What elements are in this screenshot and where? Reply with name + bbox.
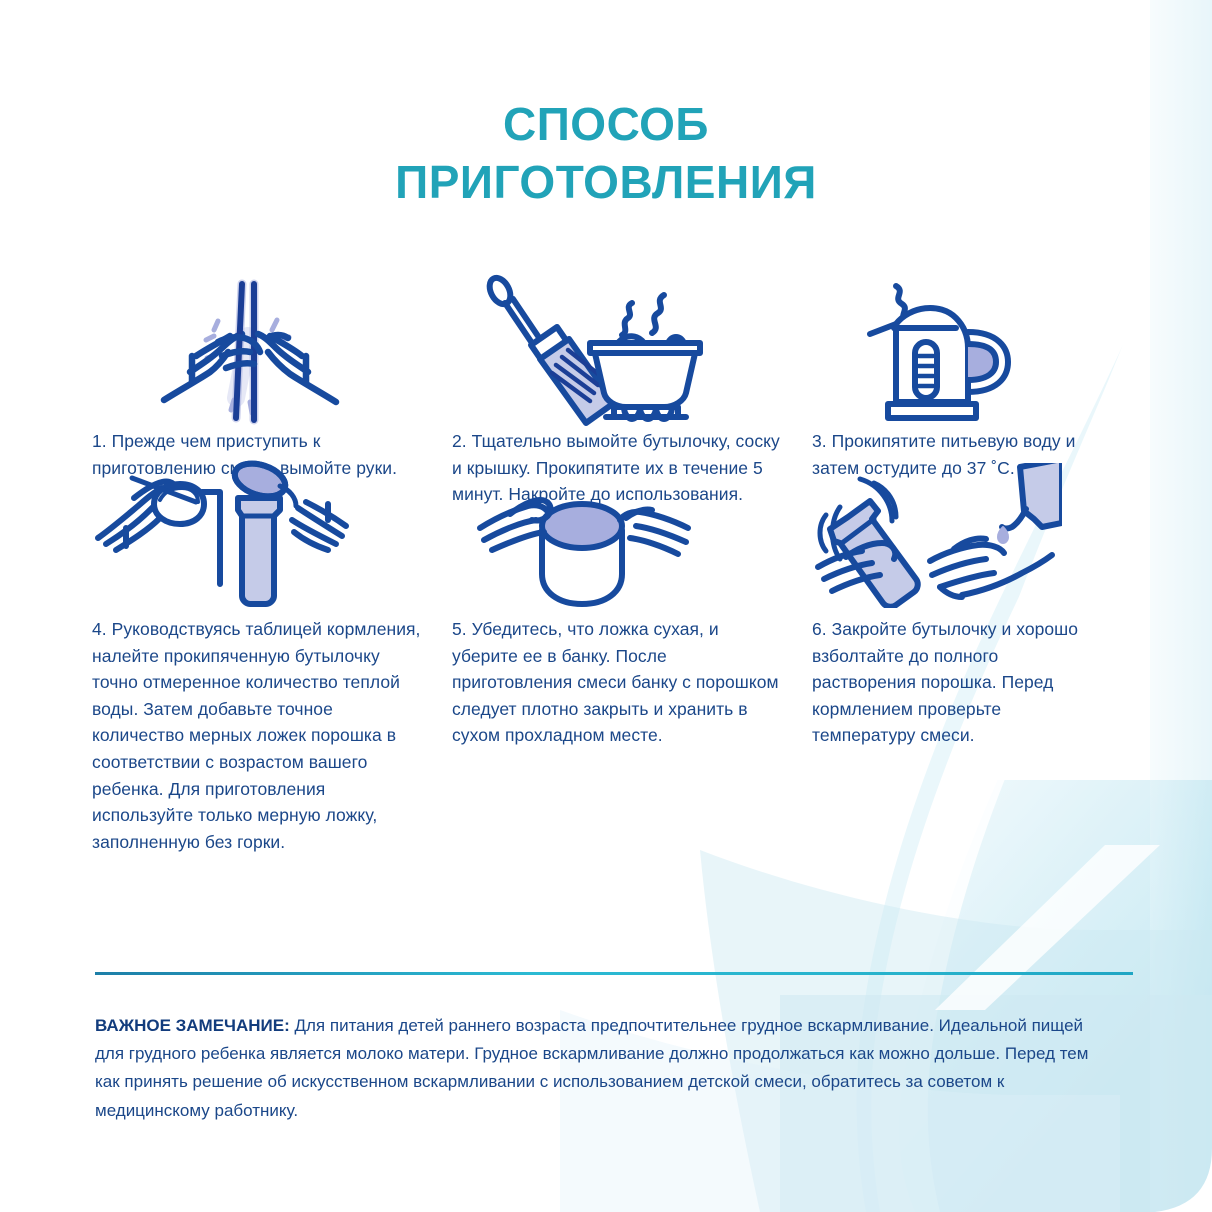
bottle-brush-and-boiling-pot-icon [452, 268, 812, 428]
step-6: 6. Закройте бутылочку и хорошо взболтайт… [812, 458, 1132, 855]
step-6-text: 6. Закройте бутылочку и хорошо взболтайт… [812, 608, 1132, 749]
step-4: 4. Руководствуясь таблицей кормления, на… [92, 458, 452, 855]
step-1: 1. Прежде чем приступить к приготовлению… [92, 268, 452, 458]
step-5: 5. Убедитесь, что ложка сухая, и уберите… [452, 458, 812, 855]
electric-kettle-icon [812, 268, 1132, 428]
section-divider [95, 972, 1133, 975]
preparation-instructions-page: СПОСОБ ПРИГОТОВЛЕНИЯ [0, 0, 1212, 1212]
washing-hands-icon [92, 268, 452, 428]
step-5-text: 5. Убедитесь, что ложка сухая, и уберите… [452, 608, 812, 749]
page-title: СПОСОБ ПРИГОТОВЛЕНИЯ [0, 96, 1212, 211]
step-2: 2. Тщательно вымойте бутылочку, соску и … [452, 268, 812, 458]
page-title-line-2: ПРИГОТОВЛЕНИЯ [0, 154, 1212, 212]
steps-grid: 1. Прежде чем приступить к приготовлению… [92, 268, 1132, 855]
step-3: 3. Прокипятите питьевую воду и затем ост… [812, 268, 1132, 458]
shake-bottle-and-test-temperature-icon [812, 458, 1132, 608]
step-4-text: 4. Руководствуясь таблицей кормления, на… [92, 608, 452, 855]
important-note: ВАЖНОЕ ЗАМЕЧАНИЕ: Для питания детей ранн… [95, 1012, 1105, 1125]
scoop-and-bottle-fill-icon [92, 458, 452, 608]
closing-tin-lid-icon [452, 458, 812, 608]
important-note-label: ВАЖНОЕ ЗАМЕЧАНИЕ: [95, 1016, 290, 1035]
page-title-line-1: СПОСОБ [0, 96, 1212, 154]
